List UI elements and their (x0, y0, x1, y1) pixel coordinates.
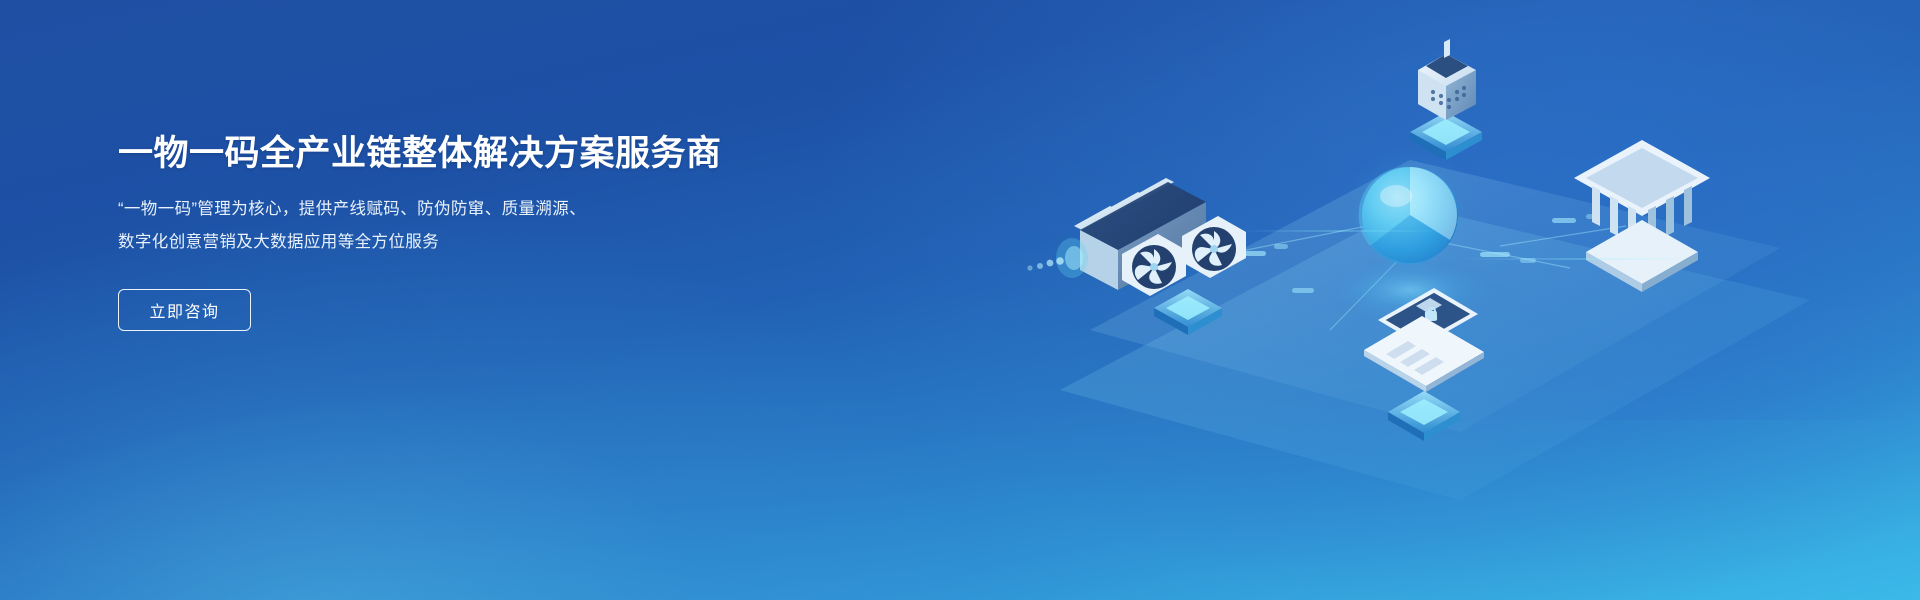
hero-copy: 一物一码全产业链整体解决方案服务商 “一物一码”管理为核心，提供产线赋码、防伪防… (118, 132, 838, 331)
node-pad-pos (1410, 112, 1482, 160)
bank-building-icon (1574, 140, 1710, 292)
laptop-lock-icon (1364, 288, 1484, 441)
hero-subcopy: “一物一码”管理为核心，提供产线赋码、防伪防窜、质量溯源、 数字化创意营销及大数… (118, 193, 838, 259)
background-glow-top-right (1180, 0, 1920, 420)
subcopy-line-1: “一物一码”管理为核心，提供产线赋码、防伪防窜、质量溯源、 (118, 193, 838, 226)
server-fans-icon (1027, 178, 1246, 335)
fan-1 (1122, 234, 1186, 296)
data-pulse-markers (1240, 214, 1598, 293)
signal-emitter (1027, 238, 1088, 278)
hero-illustration (940, 0, 1920, 600)
iso-plate-upper (1090, 160, 1780, 432)
iso-plate-lower (1060, 205, 1810, 500)
subcopy-line-2: 数字化创意营销及大数据应用等全方位服务 (118, 226, 838, 259)
fan-2 (1182, 216, 1246, 278)
globe-sphere-icon (1324, 145, 1496, 324)
light-beams (1240, 230, 1700, 260)
page-title: 一物一码全产业链整体解决方案服务商 (118, 132, 838, 176)
consult-now-button[interactable]: 立即咨询 (118, 289, 251, 331)
node-pad-server (1154, 289, 1222, 335)
network-links (1186, 200, 1626, 330)
hero-banner: 一物一码全产业链整体解决方案服务商 “一物一码”管理为核心，提供产线赋码、防伪防… (0, 0, 1920, 600)
pos-terminal-icon (1410, 39, 1482, 160)
node-pad-laptop (1388, 391, 1460, 441)
node-pad-bank (1608, 239, 1676, 285)
